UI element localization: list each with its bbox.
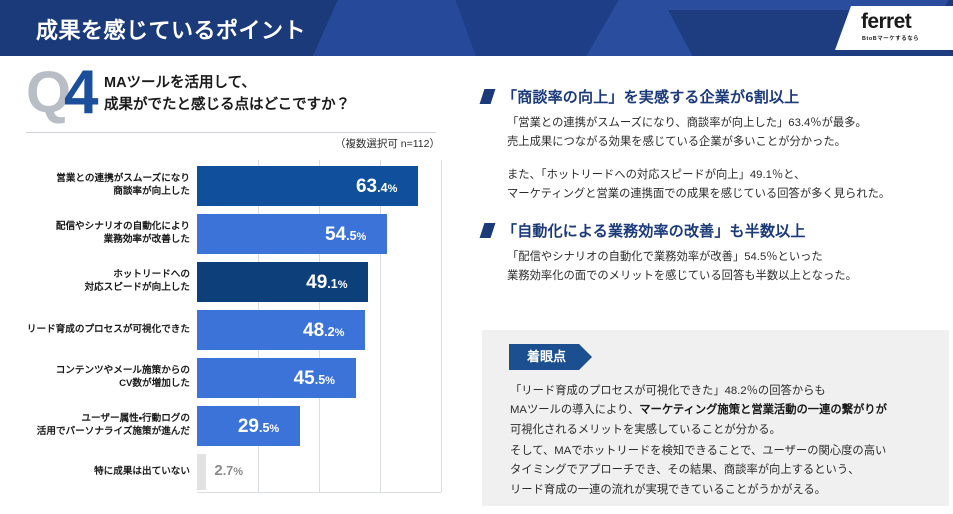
chart-row: 特に成果は出ていない2.7% bbox=[0, 454, 462, 490]
section-1-body-line2: 売上成果につながる効果を感じている企業が多いことが分かった。 bbox=[507, 133, 867, 152]
insight-p2-line2: タイミングでアプローチでき、その結果、商談率が向上するという、 bbox=[510, 461, 886, 480]
insight-paragraph-1: 「リード育成のプロセスが可視化できた」48.2％の回答からも MAツールの導入に… bbox=[510, 382, 887, 440]
chart-category-label: リード育成のプロセスが可視化できた bbox=[10, 324, 190, 337]
insight-paragraph-2: そして、MAでホットリードを検知できることで、ユーザーの関心度の高い タイミング… bbox=[510, 442, 886, 500]
value-percent-sign: % bbox=[388, 183, 398, 195]
survey-note: （複数選択可 n=112） bbox=[335, 136, 440, 151]
value-decimal: .7 bbox=[223, 464, 233, 478]
chart-value-label: 2.7% bbox=[214, 463, 243, 478]
section-1-body2-line1: また、「ホットリードへの対応スピードが向上」49.1％と、 bbox=[507, 166, 890, 185]
value-integer: 63 bbox=[356, 176, 377, 197]
slash-accent-icon-2 bbox=[480, 223, 496, 238]
section-2-heading: 「自動化による業務効率の改善」も半数以上 bbox=[482, 220, 806, 241]
chart-row: リード育成のプロセスが可視化できた48.2% bbox=[0, 310, 462, 350]
chart-category-label-line2: 活用でパーソナライズ施策が進んだ bbox=[10, 426, 190, 439]
chart-category-label-line1: 配信やシナリオの自動化により bbox=[10, 221, 190, 234]
value-integer: 49 bbox=[306, 272, 327, 293]
value-integer: 29 bbox=[238, 416, 259, 437]
chart-row: ホットリードへの対応スピードが向上した49.1% bbox=[0, 262, 462, 302]
chart-value-label: 54.5% bbox=[325, 225, 366, 244]
logo-wordmark: ferret bbox=[861, 10, 911, 34]
value-percent-sign: % bbox=[325, 375, 335, 387]
question-text-line1: MAツールを活用して、 bbox=[104, 72, 350, 94]
chart-value-label: 48.2% bbox=[303, 321, 344, 340]
chart-category-label: 配信やシナリオの自動化により業務効率が改善した bbox=[10, 221, 190, 247]
value-integer: 54 bbox=[325, 224, 346, 245]
value-integer: 48 bbox=[303, 320, 324, 341]
value-percent-sign: % bbox=[269, 423, 279, 435]
right-panel: 「商談率の向上」を実感する企業が6割以上 「営業との連携がスムーズになり、商談率… bbox=[474, 56, 953, 514]
section-2-body: 「配信やシナリオの自動化で業務効率が改善」54.5％といった 業務効率化の面での… bbox=[507, 248, 857, 287]
value-integer: 2 bbox=[214, 462, 222, 479]
insight-tag-badge: 着眼点 bbox=[509, 344, 592, 370]
chart-category-label-line1: 営業との連携がスムーズになり bbox=[10, 173, 190, 186]
chart-category-label-line1: 特に成果は出ていない bbox=[10, 466, 190, 479]
insight-p2-line3: リード育成の一連の流れが実現できていることがうかがえる。 bbox=[510, 481, 886, 500]
slash-accent-icon bbox=[480, 89, 496, 104]
question-number: 4 bbox=[64, 62, 98, 124]
chart-category-label-line1: コンテンツやメール施策からの bbox=[10, 365, 190, 378]
left-panel: Q 4 MAツールを活用して、 成果がでたと感じる点はどこですか？ （複数選択可… bbox=[0, 56, 462, 514]
chart-category-label-line2: CV数が増加した bbox=[10, 378, 190, 391]
bar-chart: 営業との連携がスムーズになり商談率が向上した63.4%配信やシナリオの自動化によ… bbox=[0, 160, 462, 508]
page-title: 成果を感じているポイント bbox=[36, 13, 306, 45]
chart-value-label: 29.5% bbox=[238, 417, 279, 436]
value-decimal: .5 bbox=[315, 373, 325, 387]
chart-category-label: 特に成果は出ていない bbox=[10, 466, 190, 479]
question-divider bbox=[26, 132, 436, 133]
logo-tagline: BtoBマーケするなら bbox=[862, 34, 919, 42]
section-1-body-line1: 「営業との連携がスムーズになり、商談率が向上した」63.4％が最多。 bbox=[507, 114, 867, 133]
insight-p1-line3: 可視化されるメリットを実感していることが分かる。 bbox=[510, 421, 887, 440]
chart-row: コンテンツやメール施策からのCV数が増加した45.5% bbox=[0, 358, 462, 398]
chart-value-label: 49.1% bbox=[306, 273, 347, 292]
question-letter: Q bbox=[26, 64, 69, 122]
chart-axis-baseline bbox=[197, 492, 441, 493]
chart-bar[interactable] bbox=[197, 454, 206, 490]
value-percent-sign: % bbox=[335, 327, 345, 339]
value-percent-sign: % bbox=[338, 279, 348, 291]
question-text: MAツールを活用して、 成果がでたと感じる点はどこですか？ bbox=[104, 72, 350, 117]
chart-row: 配信やシナリオの自動化により業務効率が改善した54.5% bbox=[0, 214, 462, 254]
chart-row: 営業との連携がスムーズになり商談率が向上した63.4% bbox=[0, 166, 462, 206]
section-1-body-2: また、「ホットリードへの対応スピードが向上」49.1％と、 マーケティングと営業… bbox=[507, 166, 890, 205]
insight-box: 着眼点 「リード育成のプロセスが可視化できた」48.2％の回答からも MAツール… bbox=[482, 330, 949, 506]
section-1-heading: 「商談率の向上」を実感する企業が6割以上 bbox=[482, 86, 799, 107]
brand-logo: ferret BtoBマーケするなら bbox=[835, 6, 953, 50]
chart-value-label: 45.5% bbox=[294, 369, 335, 388]
chart-category-label-line2: 業務効率が改善した bbox=[10, 234, 190, 247]
value-decimal: .5 bbox=[346, 229, 356, 243]
chart-category-label-line1: ホットリードへの bbox=[10, 269, 190, 282]
section-2-heading-text: 「自動化による業務効率の改善」も半数以上 bbox=[502, 223, 806, 240]
chart-value-label: 63.4% bbox=[356, 177, 397, 196]
section-2-body-line2: 業務効率化の面でのメリットを感じている回答も半数以上となった。 bbox=[507, 267, 857, 286]
chart-category-label-line1: リード育成のプロセスが可視化できた bbox=[10, 324, 190, 337]
value-decimal: .5 bbox=[259, 421, 269, 435]
chart-category-label-line1: ユーザー属性・行動ログの bbox=[10, 413, 190, 426]
insight-p1-line1: 「リード育成のプロセスが可視化できた」48.2％の回答からも bbox=[510, 382, 887, 401]
chart-category-label: 営業との連携がスムーズになり商談率が向上した bbox=[10, 173, 190, 199]
chart-category-label-line2: 対応スピードが向上した bbox=[10, 282, 190, 295]
insight-p1-line2: MAツールの導入により、マーケティング施策と営業活動の一連の繋がりが bbox=[510, 401, 887, 420]
insight-p1-line2-a: MAツールの導入により、 bbox=[510, 404, 639, 416]
value-decimal: .2 bbox=[324, 325, 334, 339]
chart-category-label: ユーザー属性・行動ログの活用でパーソナライズ施策が進んだ bbox=[10, 413, 190, 439]
insight-p2-line1: そして、MAでホットリードを検知できることで、ユーザーの関心度の高い bbox=[510, 442, 886, 461]
section-1-body2-line2: マーケティングと営業の連携面での成果を感じている回答が多く見られた。 bbox=[507, 185, 890, 204]
insight-p1-line2-bold: マーケティング施策と営業活動の一連の繋がりが bbox=[639, 404, 887, 416]
slide-header: 成果を感じているポイント ferret BtoBマーケするなら bbox=[0, 0, 953, 56]
chart-row: ユーザー属性・行動ログの活用でパーソナライズ施策が進んだ29.5% bbox=[0, 406, 462, 446]
value-decimal: .4 bbox=[377, 181, 387, 195]
question-block: Q 4 MAツールを活用して、 成果がでたと感じる点はどこですか？ bbox=[26, 70, 436, 132]
value-decimal: .1 bbox=[327, 277, 337, 291]
value-percent-sign: % bbox=[233, 466, 243, 478]
chart-category-label: ホットリードへの対応スピードが向上した bbox=[10, 269, 190, 295]
value-integer: 45 bbox=[294, 368, 315, 389]
section-1-body: 「営業との連携がスムーズになり、商談率が向上した」63.4％が最多。 売上成果に… bbox=[507, 114, 867, 153]
chart-category-label-line2: 商談率が向上した bbox=[10, 186, 190, 199]
value-percent-sign: % bbox=[357, 231, 367, 243]
question-text-line2: 成果がでたと感じる点はどこですか？ bbox=[104, 94, 350, 116]
section-1-heading-text: 「商談率の向上」を実感する企業が6割以上 bbox=[502, 89, 799, 106]
chart-category-label: コンテンツやメール施策からのCV数が増加した bbox=[10, 365, 190, 391]
section-2-body-line1: 「配信やシナリオの自動化で業務効率が改善」54.5％といった bbox=[507, 248, 857, 267]
